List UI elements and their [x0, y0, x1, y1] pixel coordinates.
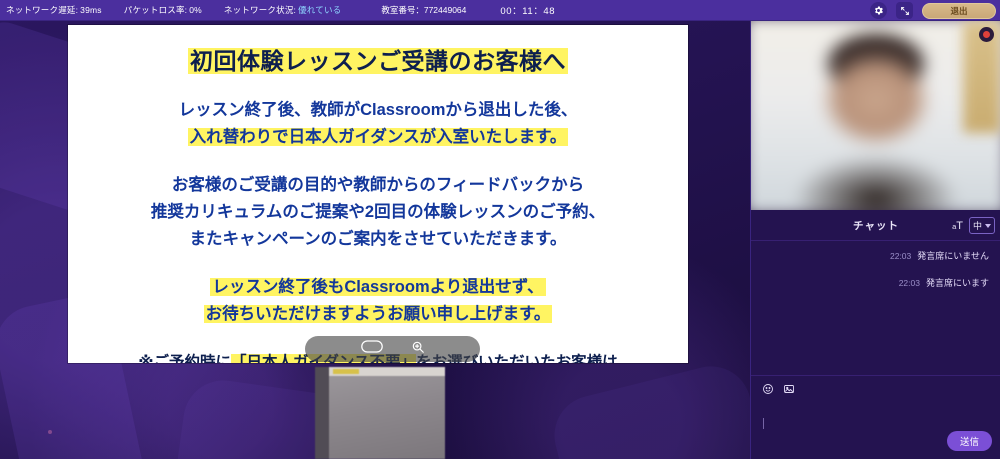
packet-loss-value: 0% [189, 5, 202, 15]
slide-p3-line1: レッスン終了後もClassroomより退出せず、 [210, 278, 545, 296]
expand-icon [900, 6, 910, 16]
chat-text-caret [763, 418, 764, 429]
top-status-bar: ネットワーク遅延: 39ms パケットロス率: 0% ネットワーク状況: 優れて… [0, 0, 1000, 21]
bg-shape [546, 358, 774, 459]
secondary-video-thumbnail[interactable] [315, 367, 445, 459]
list-item: 22:03 発言席にいます [899, 276, 989, 289]
zoom-in-button[interactable] [411, 340, 425, 359]
thumbnail-stripe [315, 367, 329, 459]
packet-loss-label: パケットロス率: [124, 4, 187, 16]
network-status-label: ネットワーク状況: [224, 4, 296, 16]
room-number: 教室番号：772449064 [381, 4, 466, 16]
list-item: 22:03 発言席にいません [890, 249, 989, 262]
slide-p1-line2: 入れ替わりで日本人ガイダンスが入室いたします。 [188, 128, 569, 146]
fit-to-screen-icon [361, 340, 383, 358]
recording-dot [983, 31, 990, 38]
image-upload-button[interactable] [782, 384, 795, 397]
slide-title: 初回体験レッスンご受講のお客様へ [86, 47, 670, 77]
fullscreen-button[interactable] [896, 2, 913, 19]
teacher-video-feed[interactable] [751, 21, 1000, 210]
image-upload-icon [783, 382, 795, 400]
emoji-button[interactable] [761, 384, 774, 397]
slide-content: 初回体験レッスンご受講のお客様へ レッスン終了後、教師がClassroomから退… [68, 25, 688, 363]
font-size-large-t: T [956, 220, 963, 232]
chat-message-row: 22:03 発言席にいます [763, 276, 989, 289]
bg-dot [48, 430, 52, 434]
message-time: 22:03 [899, 278, 920, 288]
topbar-controls: 退出 [870, 0, 996, 21]
chevron-down-icon [985, 224, 991, 228]
slide-p2-line2: 推奨カリキュラムのご提案や2回目の体験レッスンのご予約、 [151, 203, 605, 221]
emoji-icon [762, 382, 774, 400]
message-time: 22:03 [890, 251, 911, 261]
thumbnail-accent [333, 369, 359, 374]
chat-header: チャット aT 中 [751, 210, 1000, 241]
chat-input-area: 送信 [751, 375, 1000, 459]
slide-paragraph-3: レッスン終了後もClassroomより退出せず、 お待ちいただけますようお願い申… [86, 274, 670, 327]
network-latency: ネットワーク遅延: 39ms [6, 4, 102, 16]
packet-loss: パケットロス率: 0% [124, 4, 202, 16]
zoom-in-icon [411, 340, 425, 359]
slide-p2-line3: またキャンペーンのご案内をさせていただきます。 [189, 230, 566, 248]
network-latency-label: ネットワーク遅延: [6, 4, 78, 16]
network-status-group: ネットワーク遅延: 39ms パケットロス率: 0% ネットワーク状況: 優れて… [0, 4, 341, 16]
slide-p3-line2: お待ちいただけますようお願い申し上げます。 [204, 305, 553, 323]
slide-p1-line1: レッスン終了後、教師がClassroomから退出した後、 [179, 101, 578, 119]
message-text: 発言席にいます [926, 276, 989, 289]
font-size-button[interactable]: aT [952, 220, 963, 232]
session-timer: 00：11：48 [500, 3, 555, 17]
right-panel: チャット aT 中 22:03 発言席にいません 22:03 [750, 21, 1000, 459]
recording-badge-icon [979, 27, 994, 42]
chat-language-value: 中 [973, 219, 982, 232]
gear-icon [873, 5, 884, 16]
fit-to-screen-button[interactable] [361, 340, 383, 358]
chat-header-controls: aT 中 [952, 210, 995, 241]
chat-message-list[interactable]: 22:03 発言席にいません 22:03 発言席にいます [751, 241, 1000, 396]
network-latency-value: 39ms [80, 5, 102, 15]
classroom-app: ネットワーク遅延: 39ms パケットロス率: 0% ネットワーク状況: 優れて… [0, 0, 1000, 459]
network-status-value: 優れている [298, 4, 341, 16]
shared-screen-slide[interactable]: 初回体験レッスンご受講のお客様へ レッスン終了後、教師がClassroomから退… [68, 25, 688, 363]
slide-paragraph-2: お客様のご受講の目的や教師からのフィードバックから 推奨カリキュラムのご提案や2… [86, 172, 670, 252]
send-button[interactable]: 送信 [947, 431, 992, 451]
slide-title-text: 初回体験レッスンご受講のお客様へ [188, 48, 568, 74]
chat-title: チャット [853, 218, 899, 233]
chat-input-tools [751, 376, 1000, 397]
exit-classroom-button[interactable]: 退出 [922, 3, 996, 19]
slide-paragraph-1: レッスン終了後、教師がClassroomから退出した後、 入れ替わりで日本人ガイ… [86, 97, 670, 150]
chat-message-row: 22:03 発言席にいません [763, 249, 989, 262]
slide-p4-prefix: ※ご予約時に [138, 354, 231, 363]
slide-p2-line1: お客様のご受講の目的や教師からのフィードバックから [172, 176, 584, 194]
slide-overlay-toolbar [305, 336, 480, 362]
network-status: ネットワーク状況: 優れている [224, 4, 341, 16]
message-text: 発言席にいません [917, 249, 989, 262]
settings-button[interactable] [870, 2, 887, 19]
chat-language-select[interactable]: 中 [969, 217, 995, 234]
